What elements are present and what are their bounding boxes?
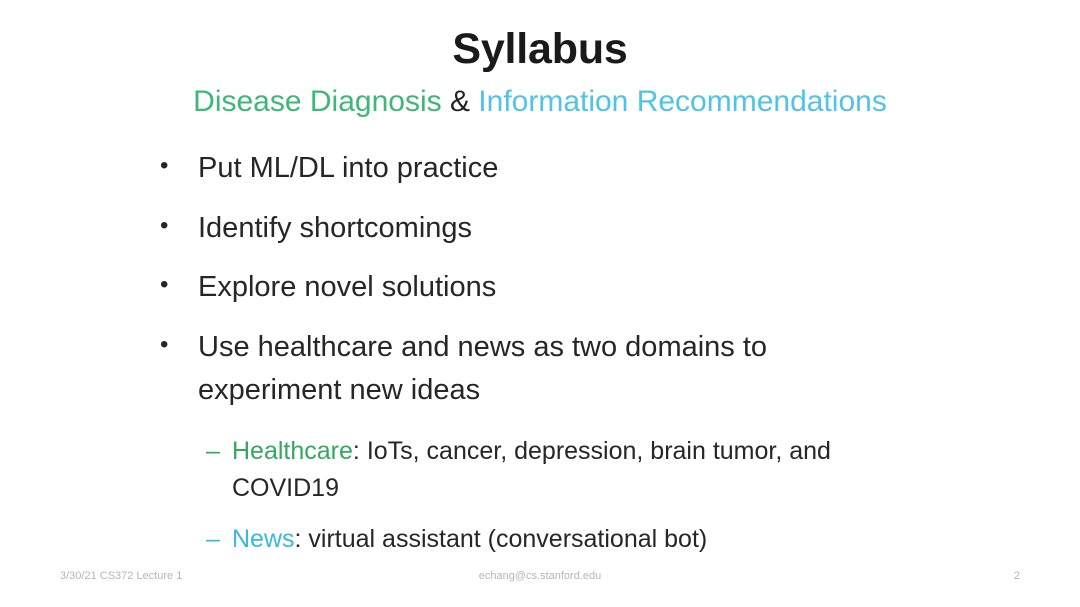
- sub-bullet-dash-icon: –: [206, 433, 232, 470]
- slide-title: Syllabus: [0, 26, 1080, 72]
- bullet-item-2: • Identify shortcomings: [160, 207, 1020, 251]
- sub-bullet-text-news: News: virtual assistant (conversational …: [232, 521, 912, 558]
- bullet-text-2: Identify shortcomings: [198, 207, 888, 251]
- sub-bullet-label-news: News: [232, 525, 295, 553]
- bullet-text-3: Explore novel solutions: [198, 266, 888, 310]
- sub-bullet-label-healthcare: Healthcare: [232, 437, 353, 465]
- presentation-slide: Syllabus Disease Diagnosis & Information…: [0, 0, 1080, 607]
- bullet-text-4: Use healthcare and news as two domains t…: [198, 326, 888, 413]
- bullet-item-4: • Use healthcare and news as two domains…: [160, 326, 1020, 413]
- slide-subtitle: Disease Diagnosis & Information Recommen…: [0, 84, 1080, 120]
- subtitle-segment-information-recommendations: Information Recommendations: [478, 85, 887, 118]
- sub-bullet-separator: :: [353, 437, 367, 465]
- slide-footer: 3/30/21 CS372 Lecture 1 echang@cs.stanfo…: [0, 566, 1080, 590]
- sub-bullet-item-news: – News: virtual assistant (conversationa…: [206, 521, 1020, 558]
- sub-bullet-text-healthcare: Healthcare: IoTs, cancer, depression, br…: [232, 433, 912, 507]
- bullet-marker-icon: •: [160, 147, 198, 186]
- bullet-marker-icon: •: [160, 266, 198, 305]
- bullet-item-3: • Explore novel solutions: [160, 266, 1020, 310]
- sub-bullet-list: – Healthcare: IoTs, cancer, depression, …: [206, 433, 1020, 558]
- subtitle-segment-ampersand: &: [442, 85, 479, 118]
- sub-bullet-separator: :: [295, 525, 309, 553]
- footer-email: echang@cs.stanford.edu: [0, 570, 1080, 582]
- bullet-marker-icon: •: [160, 207, 198, 246]
- bullet-text-1: Put ML/DL into practice: [198, 147, 888, 191]
- bullet-marker-icon: •: [160, 326, 198, 365]
- slide-body: • Put ML/DL into practice • Identify sho…: [160, 147, 1020, 572]
- bullet-item-1: • Put ML/DL into practice: [160, 147, 1020, 191]
- subtitle-segment-disease-diagnosis: Disease Diagnosis: [193, 85, 441, 118]
- sub-bullet-item-healthcare: – Healthcare: IoTs, cancer, depression, …: [206, 433, 1020, 507]
- sub-bullet-dash-icon: –: [206, 521, 232, 558]
- footer-page-number: 2: [1014, 570, 1020, 582]
- sub-bullet-body-news: virtual assistant (conversational bot): [308, 525, 707, 553]
